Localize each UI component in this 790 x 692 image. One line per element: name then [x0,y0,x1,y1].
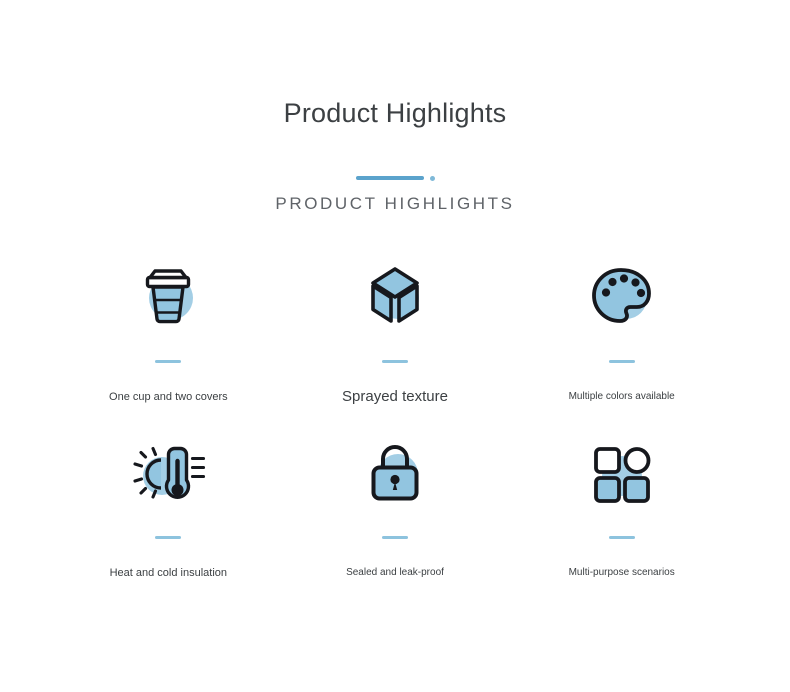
feature-card-multiple-colors: Multiple colors available [508,262,735,440]
feature-caption: Heat and cold insulation [110,565,227,581]
page-title: Product Highlights [0,96,790,130]
feature-card-sealed-leak-proof: Sealed and leak-proof [282,440,509,618]
feature-card-one-cup-two-covers: One cup and two covers [55,262,282,440]
thermometer-sun-icon [129,440,207,510]
card-rule [609,536,635,539]
feature-caption: Sprayed texture [342,389,448,405]
feature-card-multi-purpose-scenarios: Multi-purpose scenarios [508,440,735,618]
feature-caption: One cup and two covers [109,389,228,405]
padlock-icon [360,440,430,510]
feature-caption: Multiple colors available [569,389,675,405]
page-header: Product Highlights [0,96,790,130]
feature-caption: Sealed and leak-proof [346,565,444,581]
header-divider [0,172,790,184]
divider-line [356,176,424,180]
card-rule [382,536,408,539]
card-rule [155,360,181,363]
feature-card-sprayed-texture: Sprayed texture [282,262,509,440]
page-subtitle: PRODUCT HIGHLIGHTS [0,194,790,214]
paint-palette-icon [587,262,657,332]
card-rule [609,360,635,363]
feature-grid: One cup and two covers Sprayed texture [55,262,735,618]
grid-layout-icon [587,440,657,510]
page-subtitle-row: PRODUCT HIGHLIGHTS [0,194,790,214]
feature-caption: Multi-purpose scenarios [569,565,675,581]
card-rule [155,536,181,539]
feature-card-heat-cold-insulation: Heat and cold insulation [55,440,282,618]
coffee-cup-icon [133,262,203,332]
product-highlights-page: Product Highlights PRODUCT HIGHLIGHTS On [0,0,790,692]
card-rule [382,360,408,363]
cube-box-icon [360,262,430,332]
divider-dot [430,176,435,181]
